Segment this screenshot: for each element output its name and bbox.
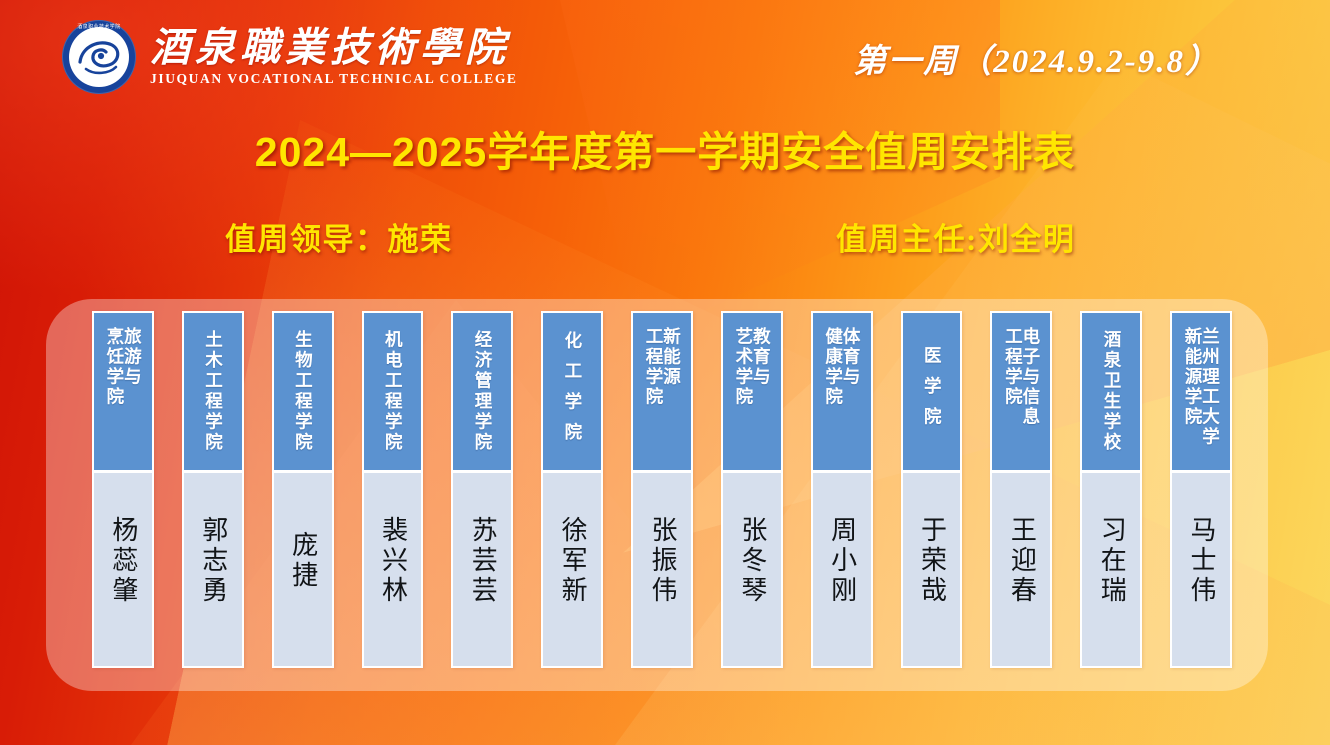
duty-person-name: 习在瑞 (1098, 516, 1124, 606)
duty-person-name: 周小刚 (829, 516, 855, 606)
department-name-column: 兰州理工大学 (1201, 327, 1219, 447)
department-card[interactable]: 生物工程学院庞捷 (272, 311, 334, 668)
department-name-column: 生物工程学院 (294, 330, 312, 453)
department-card-header: 化工学院 (543, 313, 601, 473)
department-name-column: 健康学院 (824, 327, 842, 407)
department-name-column: 体育与 (842, 327, 860, 387)
duty-staff-row: 值周领导：施荣 值周主任:刘全明 (0, 214, 1330, 262)
duty-person-name: 张振伟 (649, 516, 675, 606)
duty-person-name: 杨蕊肇 (110, 516, 136, 606)
department-name-column: 化工学院 (563, 331, 581, 453)
department-name-column: 机电工程学院 (384, 330, 402, 453)
department-card[interactable]: 化工学院徐军新 (541, 311, 603, 668)
department-card-body: 庞捷 (274, 473, 332, 666)
department-name-column: 医学院 (923, 346, 941, 438)
slide-root: 酒泉职业技术学院 酒泉職業技術學院 JIUQUAN VOCATIONAL TEC… (0, 0, 1330, 745)
department-card[interactable]: 土木工程学院郭志勇 (182, 311, 244, 668)
college-wordmark: 酒泉職業技術學院 JIUQUAN VOCATIONAL TECHNICAL CO… (150, 27, 518, 87)
department-card[interactable]: 兰州理工大学新能源学院马士伟 (1170, 311, 1232, 668)
duty-person-name: 郭志勇 (200, 516, 226, 606)
department-card-header: 酒泉卫生学校 (1082, 313, 1140, 473)
department-name-column: 新能源学院 (1184, 327, 1202, 427)
department-card-header: 兰州理工大学新能源学院 (1172, 313, 1230, 473)
department-card-body: 习在瑞 (1082, 473, 1140, 666)
duty-director-label: 值周主任:刘全明 (836, 214, 1075, 259)
department-name-column: 艺术学院 (734, 327, 752, 407)
department-card-header: 教育与艺术学院 (723, 313, 781, 473)
department-card-header: 医学院 (903, 313, 961, 473)
department-name-column: 工程学院 (1004, 327, 1022, 407)
duty-person-name: 张冬琴 (739, 516, 765, 606)
department-name-column: 电子与信息 (1021, 327, 1039, 427)
department-card-body: 张冬琴 (723, 473, 781, 666)
duty-person-name: 马士伟 (1188, 516, 1214, 606)
department-name-column: 工程学院 (644, 327, 662, 407)
duty-person-name: 裴兴林 (379, 516, 405, 606)
department-card[interactable]: 经济管理学院苏芸芸 (451, 311, 513, 668)
department-card[interactable]: 电子与信息工程学院王迎春 (990, 311, 1052, 668)
department-card-body: 张振伟 (633, 473, 691, 666)
duty-person-name: 苏芸芸 (469, 516, 495, 606)
department-card-body: 郭志勇 (184, 473, 242, 666)
department-card-list: 旅游与烹饪学院杨蕊肇土木工程学院郭志勇生物工程学院庞捷机电工程学院裴兴林经济管理… (92, 311, 1232, 668)
department-card[interactable]: 医学院于荣哉 (901, 311, 963, 668)
department-card-body: 马士伟 (1172, 473, 1230, 666)
duty-person-name: 于荣哉 (919, 516, 945, 606)
department-card[interactable]: 新能源工程学院张振伟 (631, 311, 693, 668)
department-name-column: 酒泉卫生学校 (1102, 330, 1120, 453)
crest-top-text: 酒泉职业技术学院 (62, 25, 136, 30)
department-card-header: 新能源工程学院 (633, 313, 691, 473)
department-card-body: 周小刚 (813, 473, 871, 666)
college-crest-icon: 酒泉职业技术学院 (62, 20, 136, 94)
department-card-header: 经济管理学院 (453, 313, 511, 473)
crest-swirl-icon (76, 36, 122, 78)
department-card-header: 旅游与烹饪学院 (94, 313, 152, 473)
duty-person-name: 庞捷 (290, 531, 316, 591)
header-bar: 酒泉职业技术学院 酒泉職業技術學院 JIUQUAN VOCATIONAL TEC… (0, 0, 1330, 110)
department-card-header: 生物工程学院 (274, 313, 332, 473)
duty-person-name: 徐军新 (559, 516, 585, 606)
department-card[interactable]: 机电工程学院裴兴林 (362, 311, 424, 668)
duty-leader-label: 值周领导：施荣 (225, 214, 453, 259)
department-card-header: 电子与信息工程学院 (992, 313, 1050, 473)
department-card[interactable]: 体育与健康学院周小刚 (811, 311, 873, 668)
college-name-en: JIUQUAN VOCATIONAL TECHNICAL COLLEGE (150, 71, 518, 87)
department-name-column: 土木工程学院 (204, 330, 222, 453)
department-card-body: 杨蕊肇 (94, 473, 152, 666)
duty-person-name: 王迎春 (1008, 516, 1034, 606)
department-card-body: 徐军新 (543, 473, 601, 666)
department-card[interactable]: 旅游与烹饪学院杨蕊肇 (92, 311, 154, 668)
department-name-column: 教育与 (752, 327, 770, 387)
department-card-body: 王迎春 (992, 473, 1050, 666)
department-card-body: 苏芸芸 (453, 473, 511, 666)
department-name-column: 烹饪学院 (105, 327, 123, 407)
department-card-header: 机电工程学院 (364, 313, 422, 473)
department-card-body: 裴兴林 (364, 473, 422, 666)
college-logo: 酒泉职业技术学院 酒泉職業技術學院 JIUQUAN VOCATIONAL TEC… (62, 20, 518, 94)
department-card-body: 于荣哉 (903, 473, 961, 666)
week-label: 第一周（2024.9.2-9.8） (853, 34, 1220, 82)
college-name-cn: 酒泉職業技術學院 (150, 27, 518, 69)
department-name-column: 新能源 (662, 327, 680, 387)
department-card[interactable]: 教育与艺术学院张冬琴 (721, 311, 783, 668)
department-name-column: 旅游与 (123, 327, 141, 387)
department-card-header: 土木工程学院 (184, 313, 242, 473)
department-card[interactable]: 酒泉卫生学校习在瑞 (1080, 311, 1142, 668)
department-name-column: 经济管理学院 (474, 330, 492, 453)
department-card-header: 体育与健康学院 (813, 313, 871, 473)
page-title: 2024—2025学年度第一学期安全值周安排表 (0, 118, 1330, 178)
